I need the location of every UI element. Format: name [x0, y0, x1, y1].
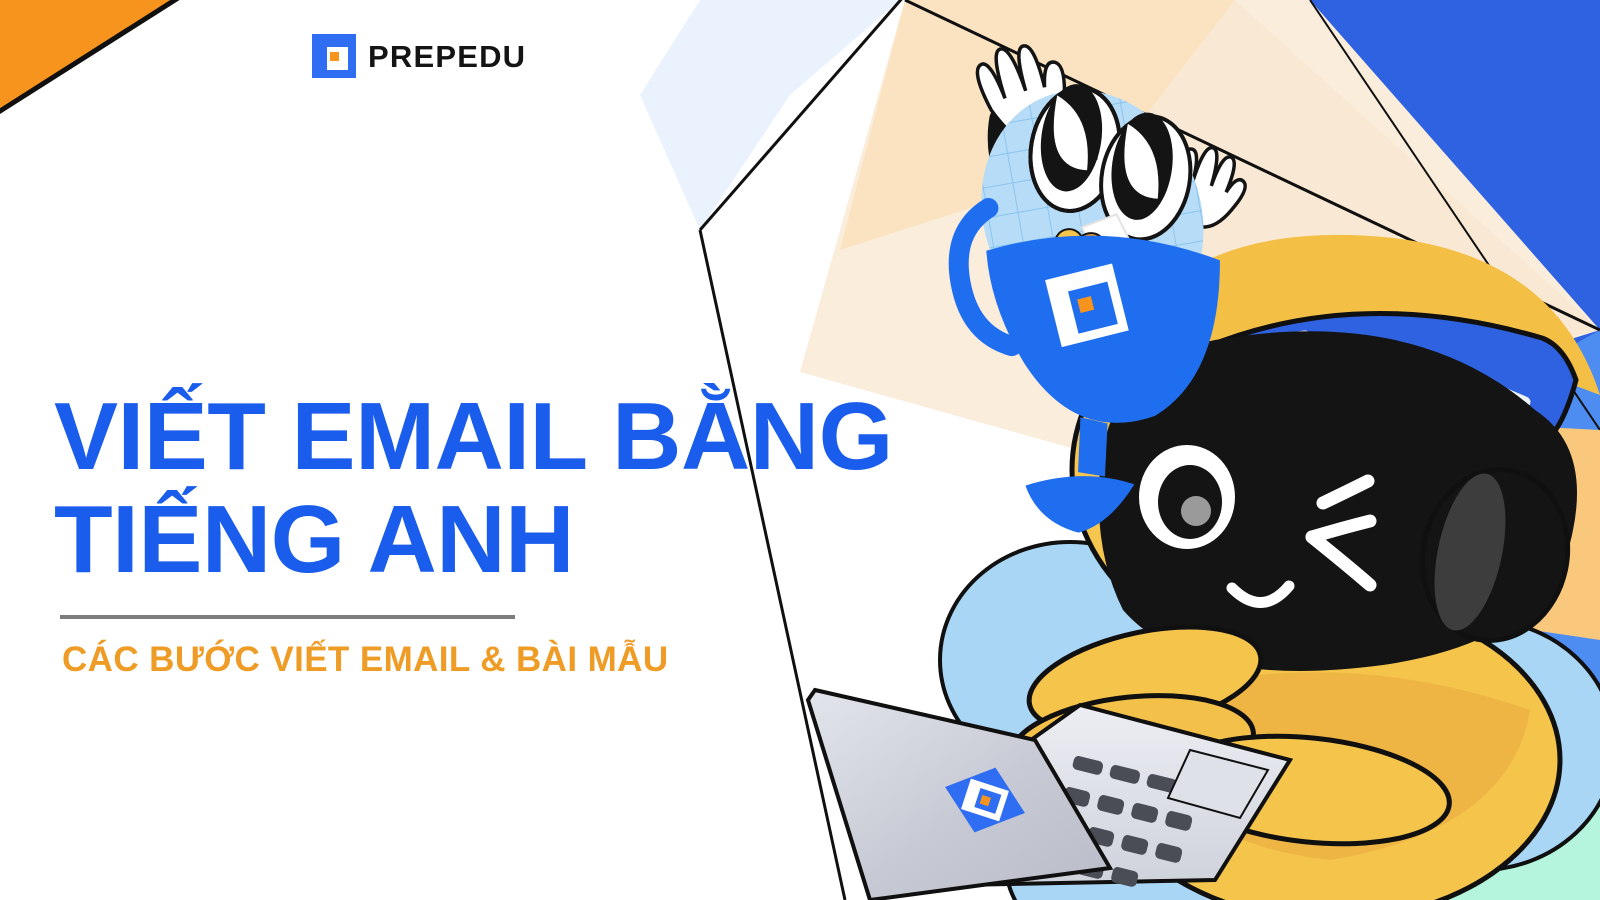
poster-canvas: PREPEDU VIẾT EMAIL BẰNG TIẾNG ANH CÁC BƯ… [0, 0, 1600, 900]
title-line-2: TIẾNG ANH [54, 489, 954, 592]
brand-wordmark: PREPEDU [368, 41, 526, 72]
title-divider [60, 615, 515, 619]
prepedu-square-mark-icon [312, 34, 356, 78]
page-title: VIẾT EMAIL BẰNG TIẾNG ANH [54, 386, 954, 591]
page-subtitle: CÁC BƯỚC VIẾT EMAIL & BÀI MẪU [62, 640, 669, 680]
brand-logo[interactable]: PREPEDU [312, 34, 526, 78]
title-line-1: VIẾT EMAIL BẰNG [54, 383, 893, 490]
